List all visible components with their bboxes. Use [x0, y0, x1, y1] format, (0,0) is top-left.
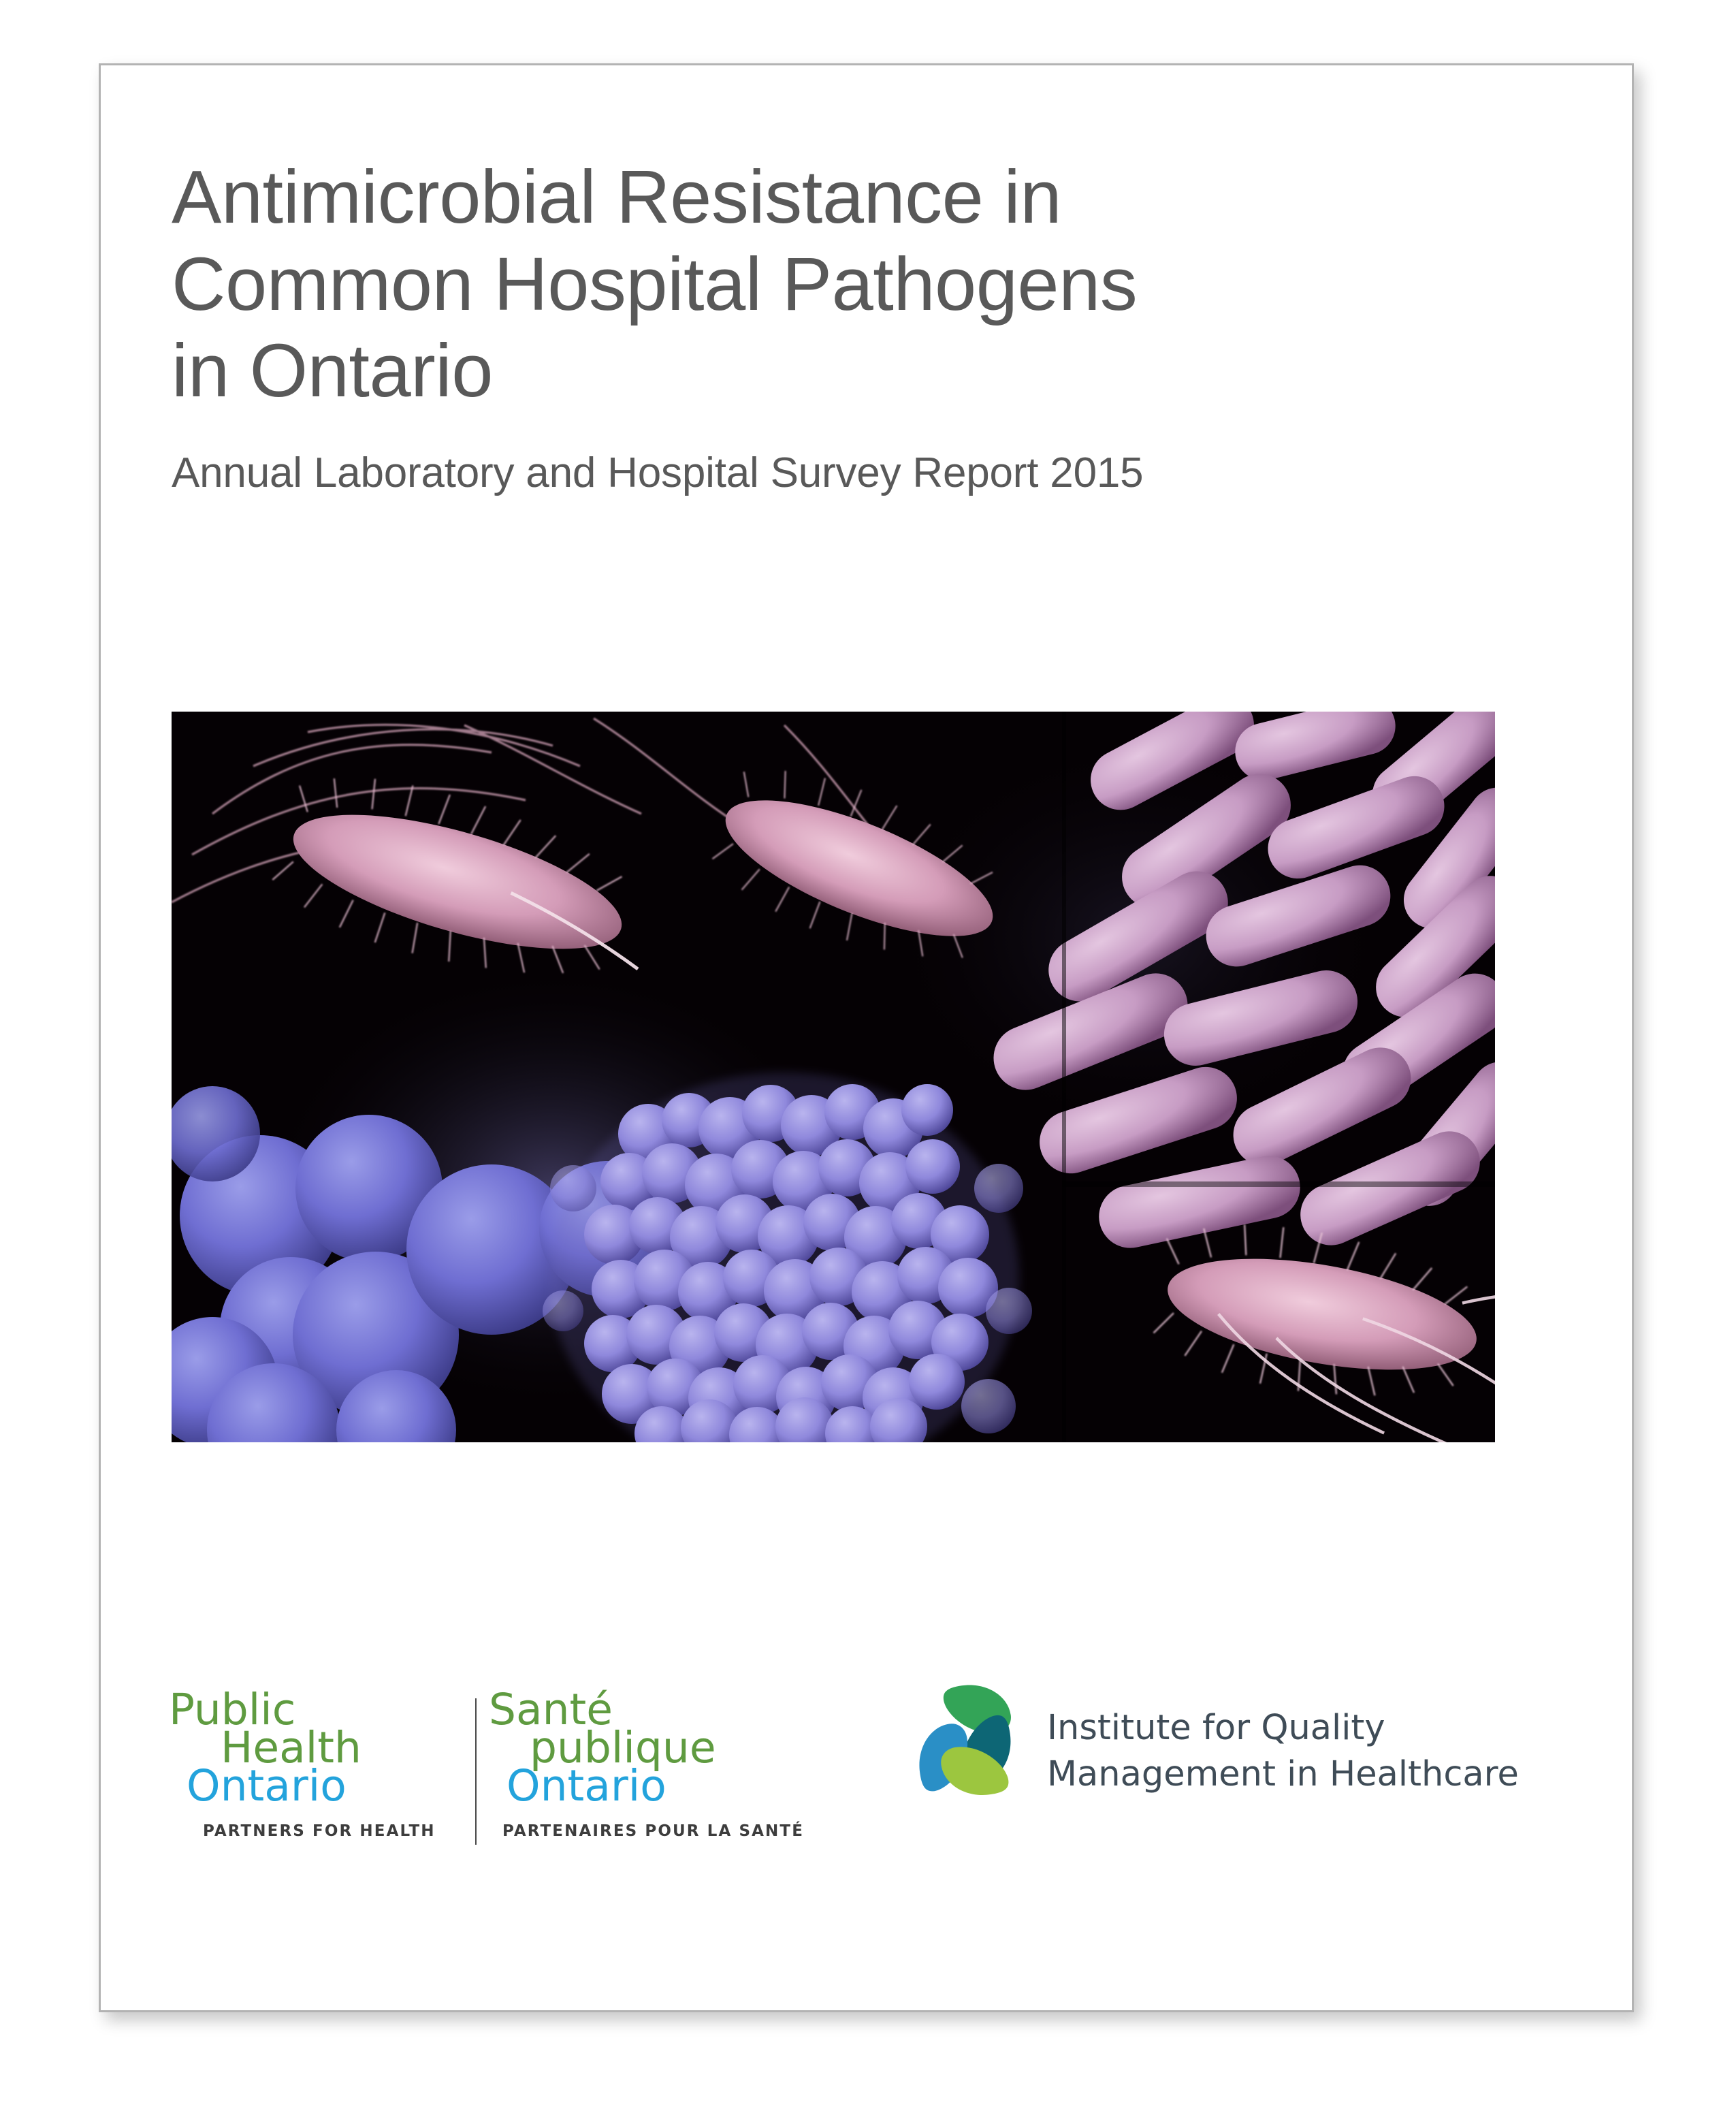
- pho-logo-english: Public Health Ontario PARTNERS FOR HEALT…: [167, 1686, 460, 1870]
- iqmh-logo: Institute for Quality Management in Heal…: [904, 1679, 1598, 1870]
- page-subtitle: Annual Laboratory and Hospital Survey Re…: [172, 448, 1506, 498]
- logo-row: Public Health Ontario PARTNERS FOR HEALT…: [101, 1672, 1632, 1877]
- pho-fr-tagline: PARTENAIRES POUR LA SANTÉ: [502, 1822, 804, 1840]
- iqmh-wordmark: Institute for Quality Management in Heal…: [1047, 1705, 1592, 1798]
- document-page: Antimicrobial Resistance in Common Hospi…: [99, 63, 1634, 2012]
- page-title: Antimicrobial Resistance in Common Hospi…: [172, 154, 1506, 415]
- pho-logo-french: Santé publique Ontario PARTENAIRES POUR …: [487, 1686, 780, 1870]
- cover-image: [172, 712, 1495, 1442]
- iqmh-petals-icon: [904, 1682, 1024, 1802]
- iqmh-line1: Institute for Quality: [1047, 1705, 1592, 1751]
- iqmh-line2: Management in Healthcare: [1047, 1751, 1592, 1798]
- logo-divider: [475, 1698, 477, 1845]
- pho-en-tagline: PARTNERS FOR HEALTH: [203, 1822, 436, 1840]
- pho-en-line3: Ontario: [187, 1766, 347, 1806]
- public-health-ontario-logo: Public Health Ontario PARTNERS FOR HEALT…: [167, 1686, 794, 1870]
- title-block: Antimicrobial Resistance in Common Hospi…: [172, 154, 1506, 498]
- pho-fr-line3: Ontario: [507, 1766, 666, 1806]
